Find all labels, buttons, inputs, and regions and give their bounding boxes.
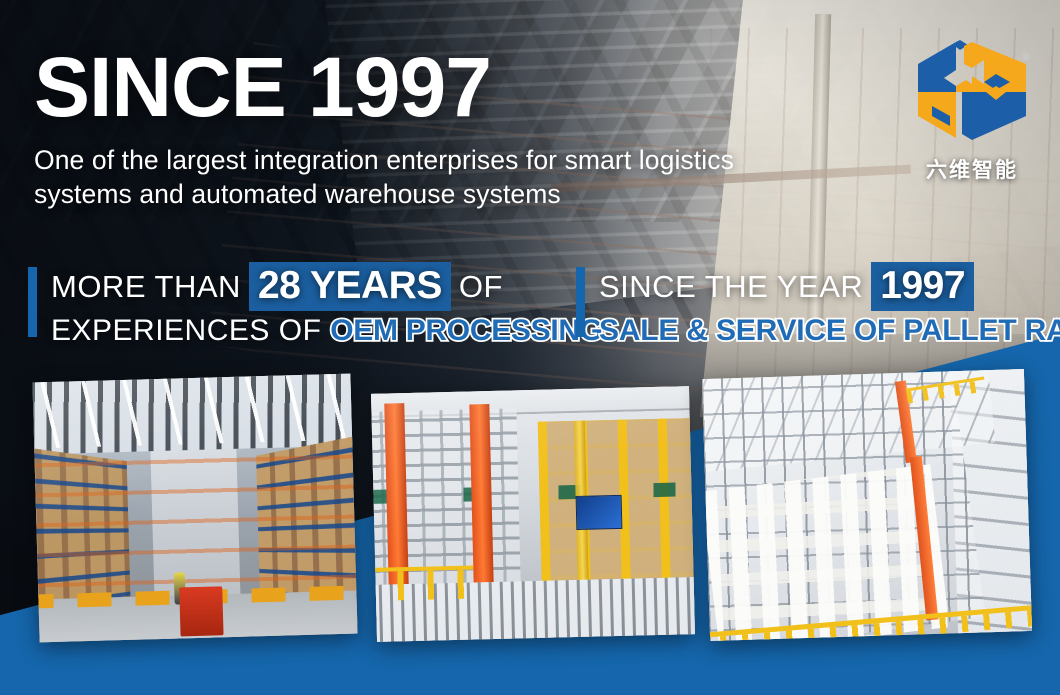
stat-line-2: SALE & SERVICE OF PALLET RACK — [599, 315, 1060, 347]
accent-bar — [28, 267, 37, 337]
stats-band: MORE THAN 28 YEARS OF EXPERIENCES OF OEM… — [28, 262, 1038, 347]
stat-prefix: SINCE THE YEAR — [599, 271, 863, 303]
stat-line2-prefix: EXPERIENCES OF — [51, 314, 321, 347]
photo-automated-stacker-crane-system — [371, 386, 695, 642]
stat-line-1: MORE THAN 28 YEARS OF — [51, 262, 603, 311]
registered-mark: ® — [1022, 51, 1030, 63]
accent-bar — [576, 267, 585, 337]
photo-strip — [0, 372, 1060, 662]
logo-company-name-cn: 六维智能 — [902, 154, 1042, 184]
stat-prefix: MORE THAN — [51, 271, 241, 303]
photo-high-bay-asrs-racking — [702, 369, 1032, 641]
stat-highlight-year: 1997 — [871, 262, 974, 311]
page-title: SINCE 1997 — [34, 46, 894, 128]
stat-line2-accent: OEM PROCESSING — [330, 314, 603, 347]
photo-pallet-racking-warehouse — [32, 374, 357, 643]
stat-item-pallet-rack: SINCE THE YEAR 1997 SALE & SERVICE OF PA… — [576, 262, 1038, 347]
stat-text-lines: SINCE THE YEAR 1997 SALE & SERVICE OF PA… — [599, 262, 1060, 347]
stat-line-1: SINCE THE YEAR 1997 — [599, 262, 1060, 311]
stat-text-lines: MORE THAN 28 YEARS OF EXPERIENCES OF OEM… — [51, 262, 603, 347]
stat-suffix: OF — [459, 271, 503, 303]
subtitle: One of the largest integration enterpris… — [34, 144, 824, 212]
stat-line-2: EXPERIENCES OF OEM PROCESSING — [51, 315, 603, 347]
stat-item-experience: MORE THAN 28 YEARS OF EXPERIENCES OF OEM… — [28, 262, 576, 347]
headline-block: SINCE 1997 One of the largest integratio… — [34, 46, 894, 212]
stat-highlight-years: 28 YEARS — [249, 262, 451, 311]
company-logo: ® 六维智能 — [902, 30, 1042, 184]
promo-banner: SINCE 1997 One of the largest integratio… — [0, 0, 1060, 695]
hexagon-cube-logo-icon: ® — [908, 30, 1036, 150]
